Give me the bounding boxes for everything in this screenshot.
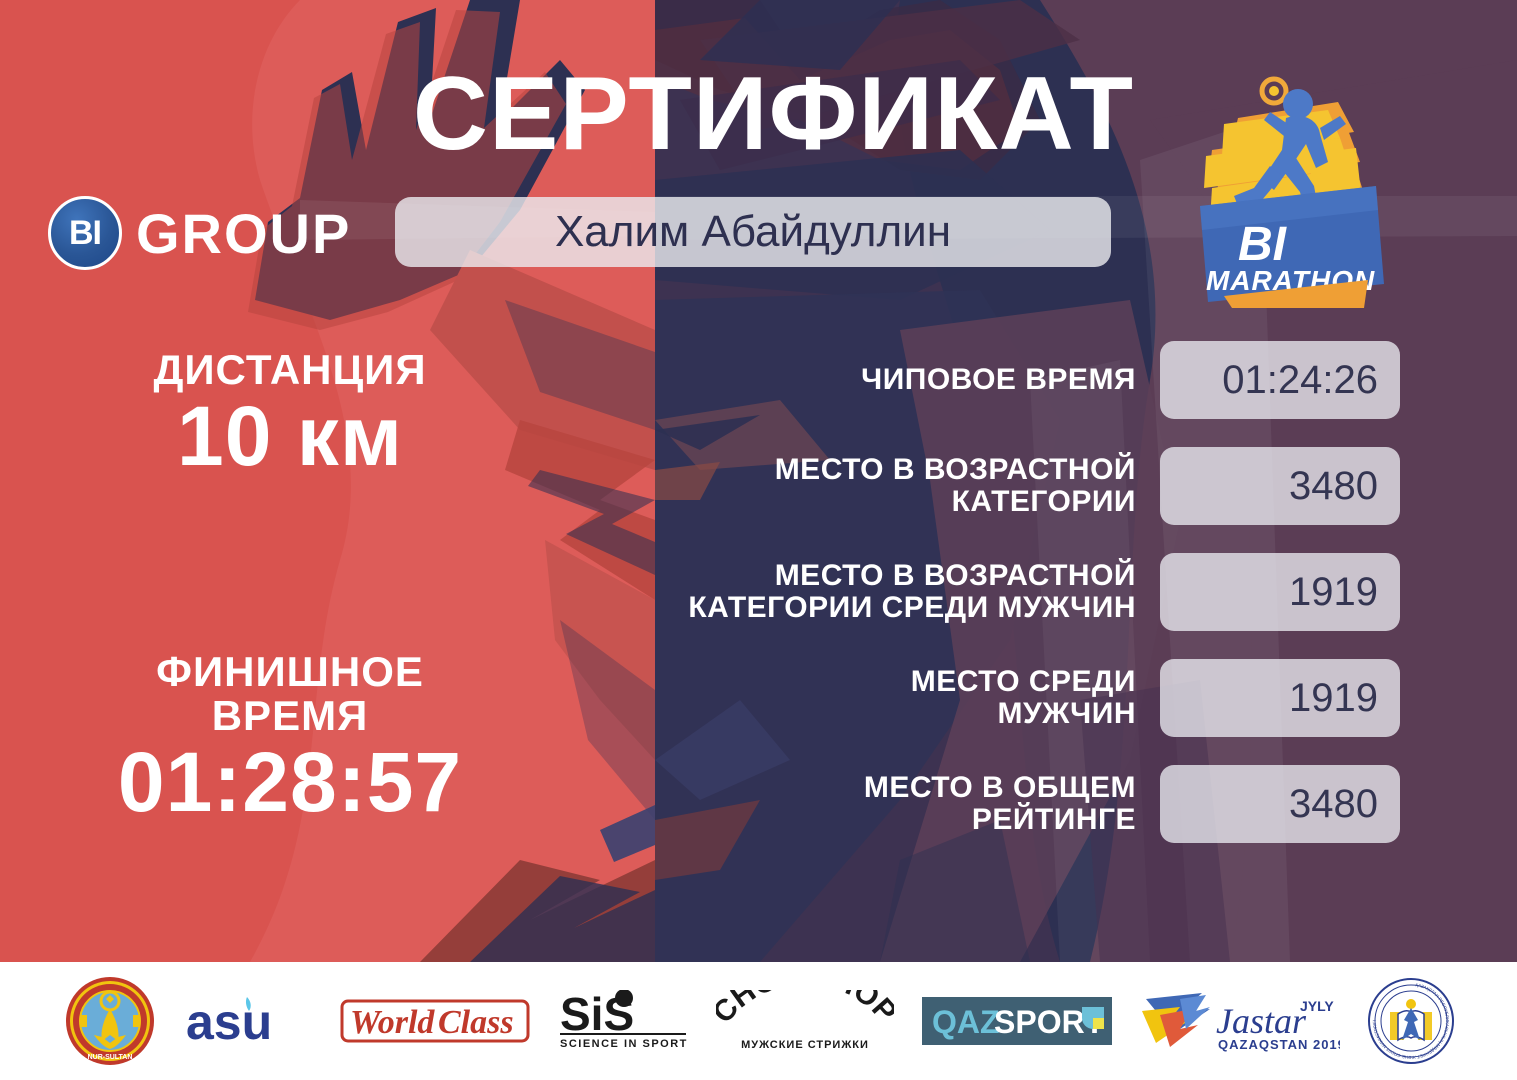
sponsor-nur-sultan-emblem: NUR-SULTAN [64,973,156,1069]
jastar-sub: QAZAQSTAN 2019 [1218,1037,1340,1052]
stat-value: 3480 [1289,464,1378,509]
certificate: СЕРТИФИКАТ BI GROUP Халим Абайдуллин [0,0,1517,1080]
stat-value-box: 1919 [1160,659,1400,737]
chop-chop-sub: МУЖСКИЕ СТРИЖКИ [741,1039,869,1051]
bi-group-label: GROUP [136,201,351,266]
jastar-sup: JYLY [1300,998,1334,1014]
asu-text: asu [186,994,272,1050]
stat-value-box: 3480 [1160,765,1400,843]
sponsor-sports-ministry-emblem: ҚАЗАҚСТАН РЕСПУБЛИКАСЫНЫҢ МӘДЕНИЕТ ЖӘНЕ … [1368,973,1454,1069]
sis-sub: SCIENCE IN SPORT [560,1038,688,1050]
stat-label: ЧИПОВОЕ ВРЕМЯ [861,364,1160,396]
stat-row: МЕСТО В ОБЩЕМ РЕЙТИНГЕ 3480 [600,765,1400,843]
bi-group-logo: BI GROUP [48,196,351,270]
bi-badge-icon: BI [48,196,122,270]
world-class-text-a: World [350,1004,435,1041]
stats-list: ЧИПОВОЕ ВРЕМЯ 01:24:26 МЕСТО В ВОЗРАСТНО… [600,341,1400,843]
stat-value-box: 1919 [1160,553,1400,631]
qazsport-text-a: QAZ [932,1004,1000,1040]
participant-name: Халим Абайдуллин [555,207,951,257]
sponsor-bar: NUR-SULTAN asu World Class SiS SCIENCE I… [0,962,1517,1080]
stat-row: ЧИПОВОЕ ВРЕМЯ 01:24:26 [600,341,1400,419]
svg-text:CHOP-CHOP: CHOP-CHOP [716,990,894,1030]
finish-time-label-line2: ВРЕМЯ [40,694,540,738]
stat-row: МЕСТО В ВОЗРАСТНОЙ КАТЕГОРИИ 3480 [600,447,1400,525]
sponsor-qazsport-logo: QAZ SPORT [922,973,1112,1069]
stat-value: 01:24:26 [1222,358,1378,403]
sponsor-sis-logo: SiS SCIENCE IN SPORT [558,973,688,1069]
sponsor-asu-logo: asu [184,973,312,1069]
sponsor-chop-chop-logo: CHOP-CHOP МУЖСКИЕ СТРИЖКИ [716,973,894,1069]
stat-label: МЕСТО В ОБЩЕМ РЕЙТИНГЕ [864,772,1160,837]
world-class-text-b: Class [438,1004,514,1041]
stat-label: МЕСТО В ВОЗРАСТНОЙ КАТЕГОРИИ [775,454,1160,519]
stat-row: МЕСТО В ВОЗРАСТНОЙ КАТЕГОРИИ СРЕДИ МУЖЧИ… [600,553,1400,631]
sponsor-world-class-logo: World Class [340,973,530,1069]
stat-label: МЕСТО В ВОЗРАСТНОЙ КАТЕГОРИИ СРЕДИ МУЖЧИ… [688,560,1160,625]
sponsor-jastar-jyly-logo: Jastar JYLY QAZAQSTAN 2019 [1140,973,1340,1069]
stat-row: МЕСТО СРЕДИ МУЖЧИН 1919 [600,659,1400,737]
distance-block: ДИСТАНЦИЯ 10 км [40,348,540,480]
distance-value: 10 км [40,392,540,480]
stat-value-box: 3480 [1160,447,1400,525]
nur-sultan-text: NUR-SULTAN [87,1054,132,1061]
bi-marathon-line1: BI [1238,218,1288,271]
finish-time-value: 01:28:57 [40,738,540,826]
stat-value: 1919 [1289,676,1378,721]
finish-time-label-line1: ФИНИШНОЕ [40,650,540,694]
distance-label: ДИСТАНЦИЯ [40,348,540,392]
bi-marathon-logo: BI MARATHON [1178,58,1408,308]
stat-label: МЕСТО СРЕДИ МУЖЧИН [911,666,1160,731]
chop-chop-text: CHOP-CHOP [716,990,894,1030]
stat-value: 3480 [1289,782,1378,827]
participant-name-field: Халим Абайдуллин [395,197,1111,267]
stat-value: 1919 [1289,570,1378,615]
stat-value-box: 01:24:26 [1160,341,1400,419]
finish-time-block: ФИНИШНОЕ ВРЕМЯ 01:28:57 [40,650,540,826]
jastar-text: Jastar [1216,1001,1307,1041]
